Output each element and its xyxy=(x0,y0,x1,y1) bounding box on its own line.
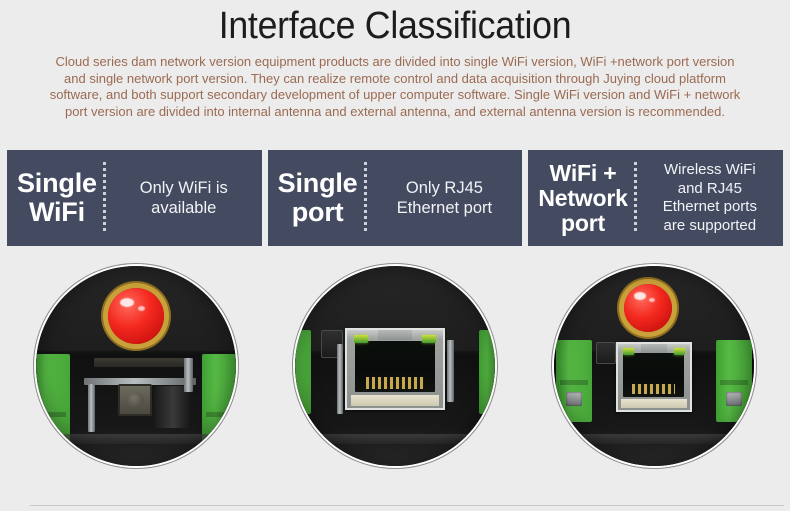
classification-card-row: Single WiFi Only WiFi is available Singl… xyxy=(7,150,783,246)
card-description: Only WiFi is available xyxy=(140,178,228,218)
terminal-notch xyxy=(560,380,588,385)
rj45-gold-pins xyxy=(366,377,424,389)
dome-highlight xyxy=(120,298,134,307)
dome-highlight xyxy=(649,298,655,302)
rj45-base xyxy=(351,395,439,406)
standoff-pin-left xyxy=(337,344,343,414)
intro-paragraph: Cloud series dam network version equipme… xyxy=(43,54,746,120)
standoff-pin-right xyxy=(447,340,454,402)
bottom-divider-rule xyxy=(30,505,784,506)
card-title-area: Single WiFi xyxy=(7,150,103,246)
terminal-block-left xyxy=(295,330,311,414)
photo-content xyxy=(36,266,236,466)
tactile-button xyxy=(118,384,152,416)
terminal-notch xyxy=(206,412,236,417)
terminal-block-left xyxy=(556,340,592,422)
photo-wifi-plus-network-port xyxy=(554,266,754,466)
rj45-gold-pins xyxy=(632,384,675,395)
card-description-area: Only RJ45 Ethernet port xyxy=(367,150,523,246)
rj45-led-green-left xyxy=(354,335,368,344)
electrolytic-capacitor xyxy=(154,386,192,428)
terminal-screw xyxy=(726,392,742,406)
standoff-pin-left xyxy=(88,384,95,432)
terminal-notch xyxy=(36,412,66,417)
rj45-led-green-right xyxy=(674,348,685,355)
card-single-wifi[interactable]: Single WiFi Only WiFi is available xyxy=(7,150,262,246)
rj45-led-green-left xyxy=(623,348,634,355)
dome-highlight xyxy=(138,306,145,311)
terminal-screw xyxy=(212,450,228,464)
terminal-block-right xyxy=(716,340,752,422)
rj45-ethernet-jack xyxy=(345,328,445,410)
photo-cell-single-port xyxy=(266,266,525,470)
photo-cell-single-wifi xyxy=(7,266,266,470)
rj45-latch-slot xyxy=(641,344,667,353)
terminal-screw xyxy=(566,392,582,406)
card-title-area: Single port xyxy=(268,150,364,246)
pcb-edge-line xyxy=(295,434,495,444)
pcb-edge-line xyxy=(36,434,236,444)
card-description-area: Wireless WiFi and RJ45 Ethernet ports ar… xyxy=(637,150,783,246)
card-title-area: WiFi + Network port xyxy=(528,150,633,246)
photo-content xyxy=(554,266,754,466)
photo-single-wifi-antenna-connector xyxy=(36,266,236,466)
pin-header-strip xyxy=(94,358,184,367)
interface-classification-page: Interface Classification Cloud series da… xyxy=(0,0,790,511)
photo-content xyxy=(295,266,495,466)
pcb-edge-line xyxy=(554,434,754,444)
rj45-ethernet-jack xyxy=(616,342,692,412)
photo-single-rj45-port xyxy=(295,266,495,466)
card-wifi-plus-network-port[interactable]: WiFi + Network port Wireless WiFi and RJ… xyxy=(528,150,783,246)
card-single-port[interactable]: Single port Only RJ45 Ethernet port xyxy=(268,150,523,246)
card-description-area: Only WiFi is available xyxy=(106,150,262,246)
product-photo-row xyxy=(7,266,783,470)
tactile-button-cap xyxy=(127,392,144,408)
terminal-block-left xyxy=(36,354,70,466)
terminal-block-right xyxy=(202,354,236,466)
standoff-pin-right xyxy=(184,358,193,392)
dome-highlight xyxy=(634,292,646,300)
terminal-block-right xyxy=(479,330,495,414)
page-title: Interface Classification xyxy=(24,4,767,48)
rj45-latch-slot xyxy=(378,330,413,340)
card-description: Only RJ45 Ethernet port xyxy=(397,178,492,218)
card-title: Single port xyxy=(278,169,358,227)
card-description: Wireless WiFi and RJ45 Ethernet ports ar… xyxy=(663,161,757,235)
antenna-dome-red xyxy=(108,288,164,344)
mounting-pad xyxy=(596,342,616,364)
terminal-screw xyxy=(42,450,58,464)
card-title: WiFi + Network port xyxy=(538,161,627,236)
antenna-dome-red xyxy=(624,284,672,332)
rj45-base xyxy=(621,399,687,408)
rj45-led-green-right xyxy=(422,335,436,344)
photo-cell-wifi-plus-network-port xyxy=(524,266,783,470)
page-header: Interface Classification Cloud series da… xyxy=(0,0,790,120)
terminal-notch xyxy=(720,380,748,385)
card-title: Single WiFi xyxy=(17,169,97,227)
